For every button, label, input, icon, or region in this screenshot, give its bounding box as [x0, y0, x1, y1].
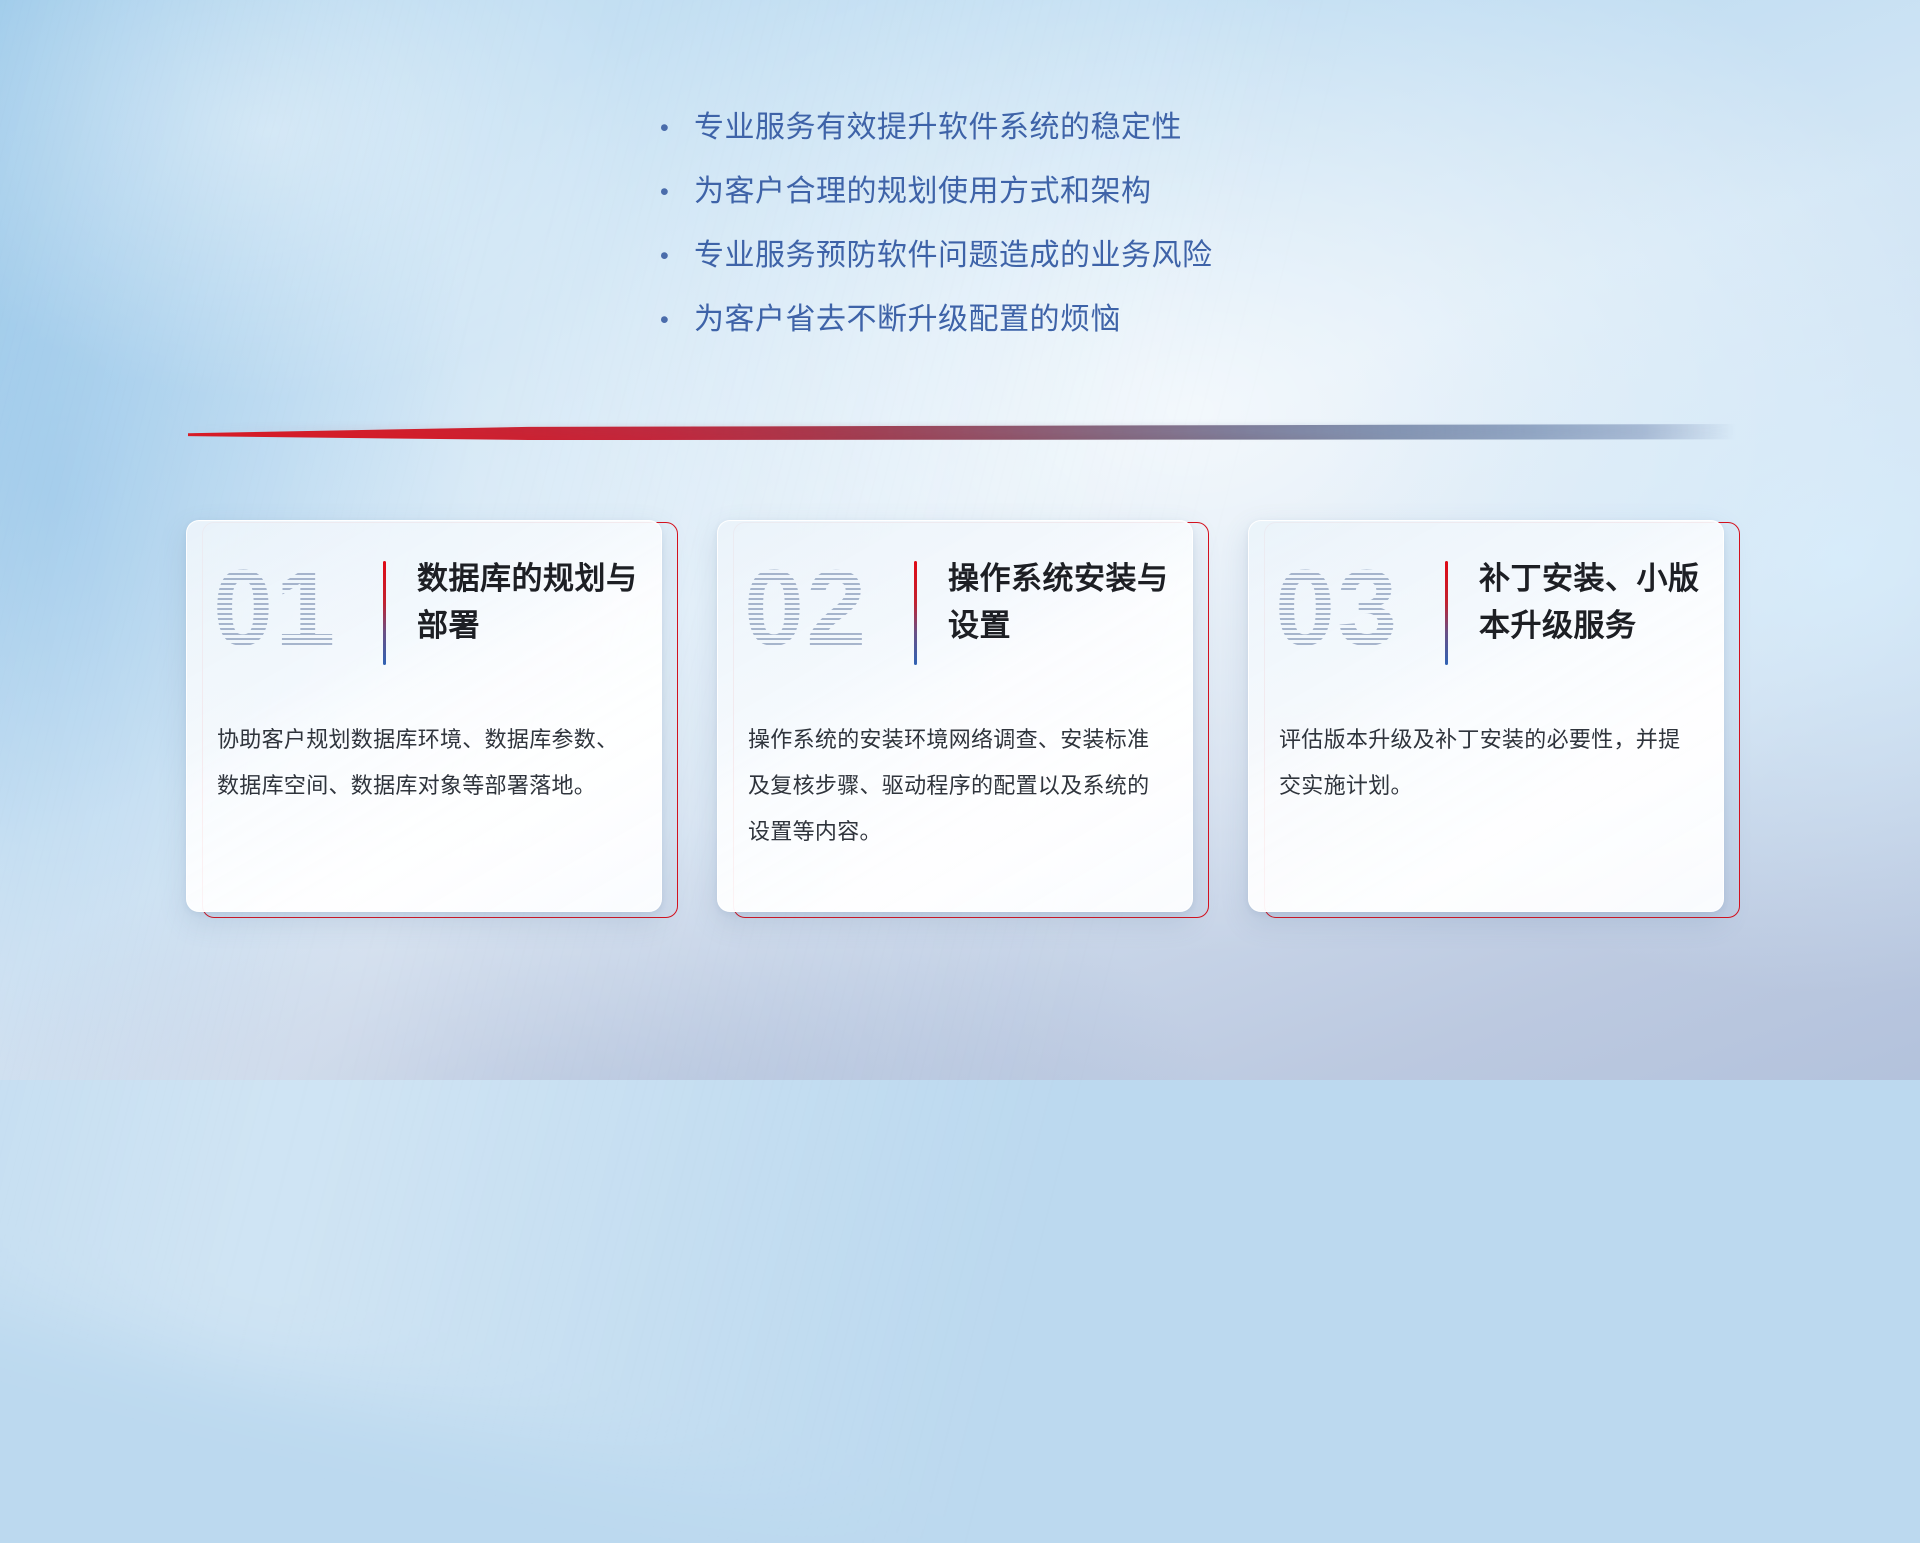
card-ghost-number: 03 [1275, 533, 1399, 683]
card-surface[interactable]: 01 数据库的规划与部署 协助客户规划数据库环境、数据库参数、数据库空间、数据库… [186, 520, 662, 912]
bullet-text: 为客户省去不断升级配置的烦恼 [694, 300, 1121, 340]
divider-wedge-glow [188, 426, 1736, 435]
card-header: 03 补丁安装、小版本升级服务 [1249, 539, 1724, 689]
card-divider-bar [914, 561, 917, 665]
card-divider-bar [383, 561, 386, 665]
service-card-03[interactable]: 03 补丁安装、小版本升级服务 评估版本升级及补丁安装的必要性，并提交实施计划。 [1248, 520, 1740, 922]
bullet-text: 专业服务预防软件问题造成的业务风险 [694, 236, 1213, 276]
card-ghost-number: 02 [744, 533, 868, 683]
card-title: 补丁安装、小版本升级服务 [1479, 555, 1709, 649]
card-header: 02 操作系统安装与设置 [718, 539, 1193, 689]
service-card-02[interactable]: 02 操作系统安装与设置 操作系统的安装环境网络调查、安装标准及复核步骤、驱动程… [717, 520, 1209, 922]
card-title: 数据库的规划与部署 [417, 555, 647, 649]
list-item: • 专业服务预防软件问题造成的业务风险 [660, 236, 1440, 300]
card-body-text: 操作系统的安装环境网络调查、安装标准及复核步骤、驱动程序的配置以及系统的设置等内… [748, 717, 1166, 855]
card-title: 操作系统安装与设置 [948, 555, 1178, 649]
card-ghost-number: 01 [213, 533, 337, 683]
service-cards-row: 01 数据库的规划与部署 协助客户规划数据库环境、数据库参数、数据库空间、数据库… [186, 520, 1740, 930]
list-item: • 为客户合理的规划使用方式和架构 [660, 172, 1440, 236]
bullet-text: 为客户合理的规划使用方式和架构 [694, 172, 1152, 212]
card-body-text: 评估版本升级及补丁安装的必要性，并提交实施计划。 [1279, 717, 1697, 809]
list-item: • 专业服务有效提升软件系统的稳定性 [660, 108, 1440, 172]
benefits-bullet-list: • 专业服务有效提升软件系统的稳定性 • 为客户合理的规划使用方式和架构 • 专… [660, 108, 1440, 364]
bullet-dot-icon: • [660, 236, 694, 276]
bullet-dot-icon: • [660, 300, 694, 340]
section-divider [188, 424, 1736, 440]
service-card-01[interactable]: 01 数据库的规划与部署 协助客户规划数据库环境、数据库参数、数据库空间、数据库… [186, 520, 678, 922]
card-divider-bar [1445, 561, 1448, 665]
bullet-text: 专业服务有效提升软件系统的稳定性 [694, 108, 1182, 148]
bullet-dot-icon: • [660, 108, 694, 148]
card-body-text: 协助客户规划数据库环境、数据库参数、数据库空间、数据库对象等部署落地。 [217, 717, 635, 809]
card-surface[interactable]: 03 补丁安装、小版本升级服务 评估版本升级及补丁安装的必要性，并提交实施计划。 [1248, 520, 1724, 912]
card-header: 01 数据库的规划与部署 [187, 539, 662, 689]
bullet-dot-icon: • [660, 172, 694, 212]
list-item: • 为客户省去不断升级配置的烦恼 [660, 300, 1440, 364]
card-surface[interactable]: 02 操作系统安装与设置 操作系统的安装环境网络调查、安装标准及复核步骤、驱动程… [717, 520, 1193, 912]
